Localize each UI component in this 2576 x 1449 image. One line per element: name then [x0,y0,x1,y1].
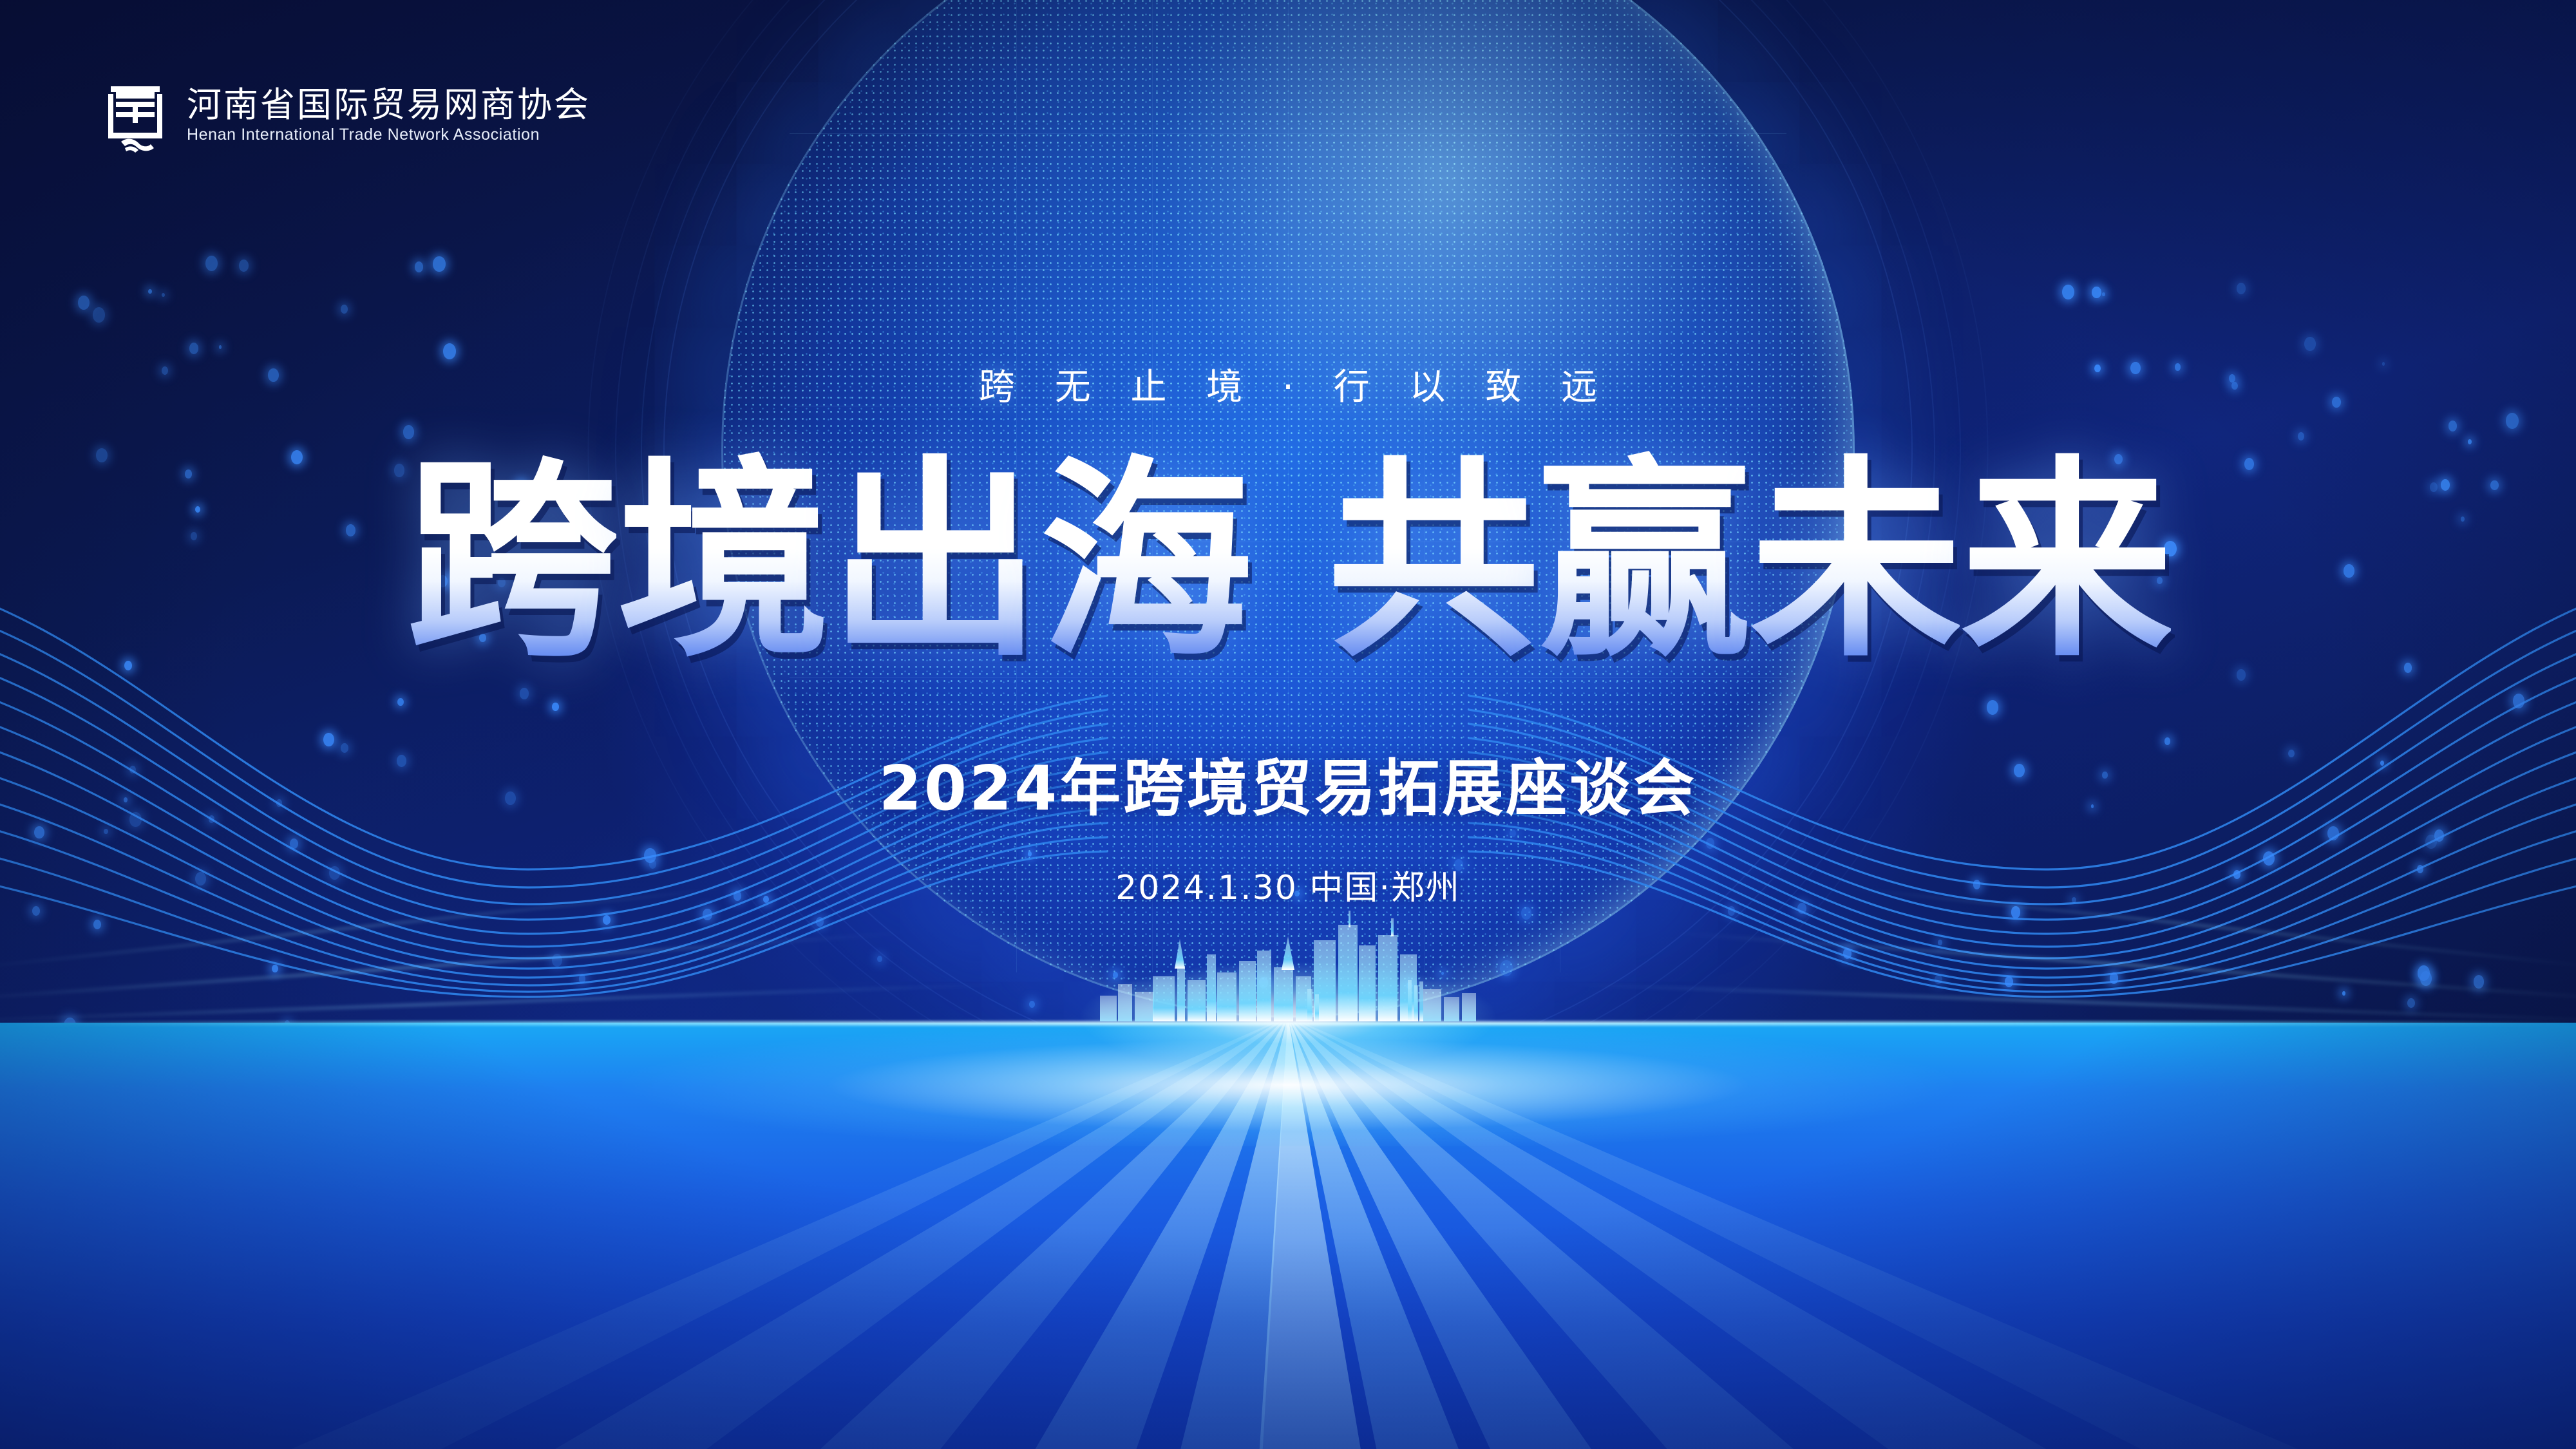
title-char: 赢 [1537,450,1748,675]
particle [877,956,882,962]
particle [1029,1001,1035,1008]
particle [124,661,132,670]
logo-name-en: Henan International Trade Network Associ… [187,127,591,143]
particle [2448,421,2457,431]
particle [520,688,529,699]
particle [2237,669,2246,680]
title-char: 共 [1326,450,1537,675]
particle [2407,998,2415,1008]
particle [268,368,279,382]
particle [1028,851,1032,857]
particle [272,965,278,972]
particle [205,256,218,271]
particle [239,260,249,272]
particle [1500,960,1513,976]
particle [1210,1001,1220,1013]
particle [2231,382,2238,390]
particle [2327,826,2339,840]
particle [552,954,562,967]
particle [644,848,656,863]
particle [32,906,40,916]
particle [2102,772,2107,779]
particle [290,838,298,849]
title-char: 出 [828,450,1039,675]
banner-main-title: 跨 境 出 海 共 赢 未 来 [405,450,2171,675]
particle [341,743,348,753]
title-char: 海 [1039,450,1250,675]
particle [649,860,656,869]
particle [93,307,105,322]
particle [1441,972,1444,975]
title-char: 未 [1748,450,1960,675]
particle [78,296,90,310]
title-char: 跨 [405,450,616,675]
particle [703,909,712,920]
particle [2490,480,2498,491]
particle [2094,365,2101,373]
particle [2418,965,2430,981]
particle [2263,851,2275,866]
title-char: 来 [1960,450,2171,675]
particle [552,703,559,712]
particle [2434,829,2444,842]
particle [2430,482,2438,492]
particle [2441,479,2450,491]
particle [323,733,334,746]
banner-date-location: 2024.1.30 中国·郑州 [1115,860,1461,909]
particle [2344,564,2354,578]
particle [2332,397,2341,408]
particle [1406,982,1412,989]
particle [415,261,424,272]
particle [397,698,404,706]
particle [1521,907,1532,920]
particle [2014,764,2025,778]
particle [2237,283,2246,294]
particle [2298,432,2304,440]
logo-name-cn: 河南省国际贸易网商协会 [187,88,591,122]
particle [346,524,355,536]
particle [603,915,611,925]
particle [2110,972,2119,983]
particle [162,293,165,297]
particle [2005,976,2013,987]
particle [2474,975,2484,988]
particle [1973,880,1981,889]
particle [2425,835,2437,849]
particle [1510,829,1516,837]
particle [2229,374,2236,383]
particle [2304,337,2315,351]
particle [2062,285,2074,299]
particle [2011,906,2021,918]
particle [2244,458,2254,470]
particle [1259,977,1269,989]
particle [443,343,456,359]
particle [1797,903,1806,914]
particle [1843,948,1852,959]
particle [104,829,108,834]
particle [1728,906,1735,915]
particle [189,343,198,354]
seal-script-logo-icon [102,77,169,153]
particle [2164,737,2170,745]
particle [2420,971,2432,986]
particle [341,305,348,314]
particle [505,791,516,806]
particle [2288,750,2295,757]
particle [1987,700,1998,715]
particle [2382,362,2385,366]
particle [397,755,406,767]
particle [124,797,128,802]
particle [763,896,769,903]
title-word-1: 跨 境 出 海 [405,450,1250,675]
particle [394,464,404,477]
particle [2102,292,2105,296]
perspective-light-rays-icon [0,1023,2576,1449]
banner-subtitle: 2024年跨境贸易拓展座谈会 [879,739,1697,828]
city-skyline-icon [1088,899,1488,1021]
particle [329,866,340,880]
particle [734,891,741,900]
particle [1935,975,1942,985]
particle [2417,865,2423,873]
particle [2404,663,2412,672]
particle [2072,897,2076,903]
particle [195,872,206,885]
particle [2380,761,2385,766]
particle [162,366,168,375]
particle [191,532,198,540]
particle [2130,362,2141,375]
title-char: 境 [616,450,828,675]
particle [2233,870,2240,879]
title-word-2: 共 赢 未 来 [1326,450,2171,675]
particle [148,289,152,294]
particle [1706,838,1714,849]
particle [2175,363,2181,371]
particle [195,506,200,513]
particle [2092,287,2101,298]
particle [291,450,303,464]
particle [2513,694,2524,708]
banner-tagline: 跨 无 止 境 · 行 以 致 远 [965,358,1611,410]
particle [1113,972,1118,978]
particle [579,974,586,983]
particle [1938,940,1942,945]
particle [276,799,283,807]
particle [185,469,192,478]
particle [129,812,142,828]
particle [129,766,136,773]
particle [93,920,101,929]
particle [816,917,824,927]
particle [2342,991,2345,995]
particle [2461,516,2465,521]
particle [2091,804,2094,808]
particle [219,345,222,349]
banner-stage: 河南省国际贸易网商协会 Henan International Trade Ne… [0,0,2576,1449]
particle [96,448,108,463]
particle [209,815,214,823]
particle [34,826,44,838]
particle [2468,439,2472,444]
particle [433,256,446,272]
particle [403,425,414,439]
particle [2506,413,2519,429]
association-logo: 河南省国际贸易网商协会 Henan International Trade Ne… [102,77,591,153]
